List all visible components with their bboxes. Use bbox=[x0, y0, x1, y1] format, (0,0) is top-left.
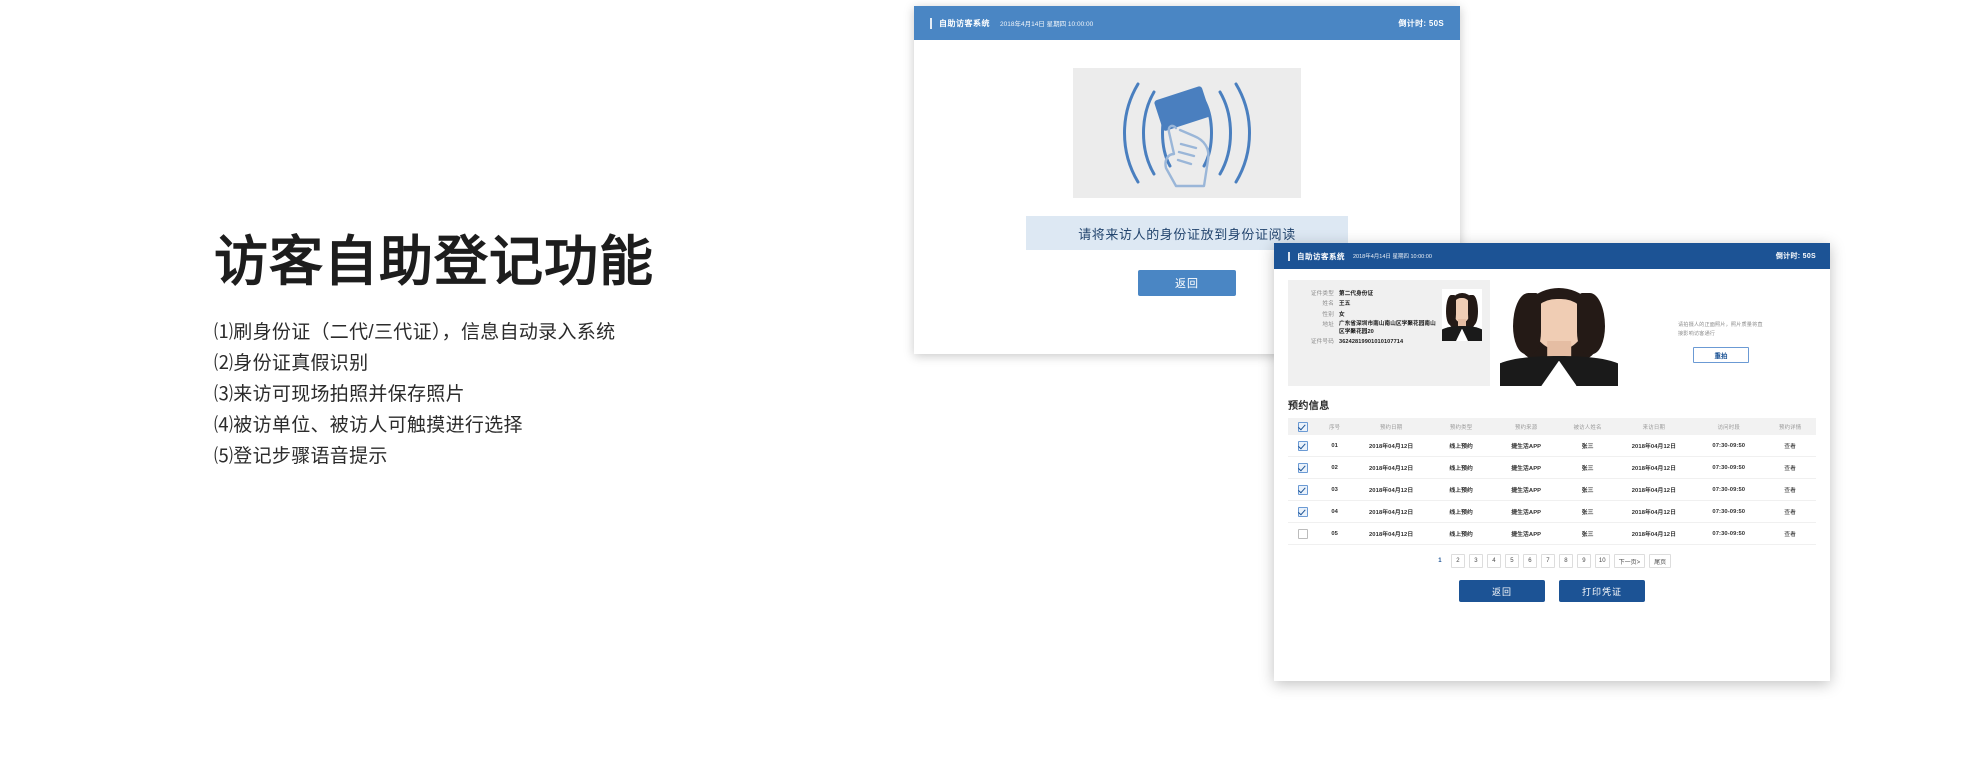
appointment-table: 序号 预约日期 预约类型 预约来源 被访人姓名 来访日期 访问时段 预约详情 0… bbox=[1288, 418, 1816, 545]
datetime-label: 2018年4月14日 星期四 10:00:00 bbox=[1000, 18, 1093, 28]
identity-field: 地址 广东省深圳市南山南山区学聚花园南山区学聚花园20 bbox=[1296, 320, 1438, 337]
cell-visit-date: 2018年04月12日 bbox=[1615, 435, 1694, 457]
page-title: 访客自助登记功能 bbox=[214, 232, 914, 292]
app-title: 自助访客系统 bbox=[1297, 251, 1345, 262]
identity-field-value: 36242819901010107714 bbox=[1339, 337, 1403, 347]
detail-action-bar: 返回 打印凭证 bbox=[1288, 580, 1816, 602]
view-detail-link[interactable]: 查看 bbox=[1764, 479, 1816, 501]
cell-appt-date: 2018年04月12日 bbox=[1352, 435, 1431, 457]
view-detail-link[interactable]: 查看 bbox=[1764, 501, 1816, 523]
column-header-appt-detail: 预约详情 bbox=[1764, 418, 1816, 435]
row-checkbox[interactable] bbox=[1298, 441, 1308, 451]
page-button-3[interactable]: 3 bbox=[1469, 554, 1483, 568]
cell-appt-date: 2018年04月12日 bbox=[1352, 523, 1431, 545]
id-card-swipe-icon bbox=[1073, 68, 1301, 198]
view-detail-link[interactable]: 查看 bbox=[1764, 523, 1816, 545]
appointment-section-title: 预约信息 bbox=[1288, 397, 1816, 412]
page-button-5[interactable]: 5 bbox=[1505, 554, 1519, 568]
title-divider-icon bbox=[1288, 252, 1290, 261]
cell-appt-date: 2018年04月12日 bbox=[1352, 457, 1431, 479]
datetime-label: 2018年4月14日 星期四 10:00:00 bbox=[1353, 252, 1432, 260]
table-row[interactable]: 03 2018年04月12日 线上预约 捷生活APP 张三 2018年04月12… bbox=[1288, 479, 1816, 501]
row-select-cell[interactable] bbox=[1288, 457, 1317, 479]
cell-time-slot: 07:30-09:50 bbox=[1693, 457, 1764, 479]
app-title: 自助访客系统 bbox=[939, 18, 990, 29]
column-header-visit-date: 来访日期 bbox=[1615, 418, 1694, 435]
row-select-cell[interactable] bbox=[1288, 523, 1317, 545]
identity-field-list: 证件类型 第二代身份证 姓名 王五 性别 女 地址 广东省深圳市南山南山区学聚花… bbox=[1296, 289, 1438, 377]
detail-body: 证件类型 第二代身份证 姓名 王五 性别 女 地址 广东省深圳市南山南山区学聚花… bbox=[1274, 269, 1830, 602]
cell-appt-date: 2018年04月12日 bbox=[1352, 501, 1431, 523]
identity-field-label: 姓名 bbox=[1296, 299, 1334, 309]
identity-field-label: 证件号码 bbox=[1296, 337, 1334, 347]
cell-visit-date: 2018年04月12日 bbox=[1615, 501, 1694, 523]
row-select-cell[interactable] bbox=[1288, 501, 1317, 523]
cell-host-name: 张三 bbox=[1561, 435, 1615, 457]
page-button-7[interactable]: 7 bbox=[1541, 554, 1555, 568]
table-row[interactable]: 02 2018年04月12日 线上预约 捷生活APP 张三 2018年04月12… bbox=[1288, 457, 1816, 479]
row-select-cell[interactable] bbox=[1288, 479, 1317, 501]
cell-appt-source: 捷生活APP bbox=[1492, 501, 1561, 523]
cell-time-slot: 07:30-09:50 bbox=[1693, 523, 1764, 545]
identity-and-capture-row: 证件类型 第二代身份证 姓名 王五 性别 女 地址 广东省深圳市南山南山区学聚花… bbox=[1288, 280, 1816, 386]
cell-time-slot: 07:30-09:50 bbox=[1693, 435, 1764, 457]
page-button-2[interactable]: 2 bbox=[1451, 554, 1465, 568]
page-button-9[interactable]: 9 bbox=[1577, 554, 1591, 568]
cell-host-name: 张三 bbox=[1561, 457, 1615, 479]
cell-index: 05 bbox=[1317, 523, 1351, 545]
page-button-10[interactable]: 10 bbox=[1595, 554, 1610, 568]
row-checkbox[interactable] bbox=[1298, 507, 1308, 517]
identity-field-value: 第二代身份证 bbox=[1339, 289, 1373, 299]
detail-title-bar: 自助访客系统 2018年4月14日 星期四 10:00:00 倒计时: 50S bbox=[1274, 243, 1830, 269]
portrait-image bbox=[1442, 289, 1482, 341]
retake-photo-button[interactable]: 重拍 bbox=[1693, 347, 1749, 363]
cell-appt-date: 2018年04月12日 bbox=[1352, 479, 1431, 501]
table-header-row: 序号 预约日期 预约类型 预约来源 被访人姓名 来访日期 访问时段 预约详情 bbox=[1288, 418, 1816, 435]
reader-back-button[interactable]: 返回 bbox=[1138, 270, 1236, 296]
table-row[interactable]: 05 2018年04月12日 线上预约 捷生活APP 张三 2018年04月12… bbox=[1288, 523, 1816, 545]
identity-field-label: 证件类型 bbox=[1296, 289, 1334, 299]
cell-appt-type: 线上预约 bbox=[1430, 479, 1491, 501]
cell-appt-source: 捷生活APP bbox=[1492, 457, 1561, 479]
table-row[interactable]: 01 2018年04月12日 线上预约 捷生活APP 张三 2018年04月12… bbox=[1288, 435, 1816, 457]
next-page-button[interactable]: 下一页> bbox=[1614, 554, 1646, 568]
identity-field: 性别 女 bbox=[1296, 310, 1438, 320]
cell-index: 01 bbox=[1317, 435, 1351, 457]
identity-field: 姓名 王五 bbox=[1296, 299, 1438, 309]
capture-panel: 请拍摄人的正面照片，照片质量将直接影响访客通行 重拍 bbox=[1500, 280, 1816, 386]
cell-appt-type: 线上预约 bbox=[1430, 457, 1491, 479]
feature-item: ⑸登记步骤语音提示 bbox=[214, 442, 914, 473]
page-button-1[interactable]: 1 bbox=[1433, 554, 1447, 568]
select-all-checkbox[interactable] bbox=[1298, 422, 1308, 432]
cell-index: 03 bbox=[1317, 479, 1351, 501]
row-checkbox[interactable] bbox=[1298, 485, 1308, 495]
cell-appt-type: 线上预约 bbox=[1430, 435, 1491, 457]
countdown-label: 倒计时: 50S bbox=[1398, 18, 1444, 29]
page-button-4[interactable]: 4 bbox=[1487, 554, 1501, 568]
cell-appt-source: 捷生活APP bbox=[1492, 479, 1561, 501]
print-pass-button[interactable]: 打印凭证 bbox=[1559, 580, 1645, 602]
cell-host-name: 张三 bbox=[1561, 501, 1615, 523]
cell-host-name: 张三 bbox=[1561, 479, 1615, 501]
identity-field-value: 王五 bbox=[1339, 299, 1350, 309]
identity-field: 证件类型 第二代身份证 bbox=[1296, 289, 1438, 299]
identity-field-value: 女 bbox=[1339, 310, 1345, 320]
identity-photo bbox=[1442, 289, 1482, 341]
select-all-header[interactable] bbox=[1288, 418, 1317, 435]
countdown-label: 倒计时: 50S bbox=[1776, 251, 1816, 261]
view-detail-link[interactable]: 查看 bbox=[1764, 435, 1816, 457]
cell-index: 02 bbox=[1317, 457, 1351, 479]
cell-appt-source: 捷生活APP bbox=[1492, 435, 1561, 457]
identity-card-panel: 证件类型 第二代身份证 姓名 王五 性别 女 地址 广东省深圳市南山南山区学聚花… bbox=[1288, 280, 1490, 386]
marketing-copy: 访客自助登记功能 ⑴刷身份证（二代/三代证），信息自动录入系统 ⑵身份证真假识别… bbox=[214, 232, 914, 472]
capture-hint-text: 请拍摄人的正面照片，照片质量将直接影响访客通行 bbox=[1678, 321, 1764, 339]
row-select-cell[interactable] bbox=[1288, 435, 1317, 457]
column-header-index: 序号 bbox=[1317, 418, 1351, 435]
column-header-time-slot: 访问时段 bbox=[1693, 418, 1764, 435]
capture-side: 请拍摄人的正面照片，照片质量将直接影响访客通行 重拍 bbox=[1626, 280, 1816, 386]
reader-title-bar: 自助访客系统 2018年4月14日 星期四 10:00:00 倒计时: 50S bbox=[914, 6, 1460, 40]
pagination: 1 2 3 4 5 6 7 8 9 10 下一页> 尾页 bbox=[1288, 554, 1816, 568]
row-checkbox[interactable] bbox=[1298, 529, 1308, 539]
feature-item: ⑴刷身份证（二代/三代证），信息自动录入系统 bbox=[214, 318, 914, 349]
detail-back-button[interactable]: 返回 bbox=[1459, 580, 1545, 602]
feature-item: ⑷被访单位、被访人可触摸进行选择 bbox=[214, 411, 914, 442]
table-row[interactable]: 04 2018年04月12日 线上预约 捷生活APP 张三 2018年04月12… bbox=[1288, 501, 1816, 523]
view-detail-link[interactable]: 查看 bbox=[1764, 457, 1816, 479]
feature-item: ⑵身份证真假识别 bbox=[214, 349, 914, 380]
page-button-6[interactable]: 6 bbox=[1523, 554, 1537, 568]
identity-field: 证件号码 36242819901010107714 bbox=[1296, 337, 1438, 347]
cell-appt-type: 线上预约 bbox=[1430, 523, 1491, 545]
page-button-8[interactable]: 8 bbox=[1559, 554, 1573, 568]
last-page-button[interactable]: 尾页 bbox=[1649, 554, 1671, 568]
column-header-appt-type: 预约类型 bbox=[1430, 418, 1491, 435]
feature-item: ⑶来访可现场拍照并保存照片 bbox=[214, 380, 914, 411]
visitor-detail-screen: 自助访客系统 2018年4月14日 星期四 10:00:00 倒计时: 50S … bbox=[1274, 243, 1830, 681]
column-header-host-name: 被访人姓名 bbox=[1561, 418, 1615, 435]
cell-visit-date: 2018年04月12日 bbox=[1615, 457, 1694, 479]
row-checkbox[interactable] bbox=[1298, 463, 1308, 473]
cell-time-slot: 07:30-09:50 bbox=[1693, 501, 1764, 523]
portrait-image bbox=[1500, 280, 1618, 386]
cell-index: 04 bbox=[1317, 501, 1351, 523]
title-divider-icon bbox=[930, 18, 932, 29]
cell-visit-date: 2018年04月12日 bbox=[1615, 523, 1694, 545]
cell-appt-type: 线上预约 bbox=[1430, 501, 1491, 523]
cell-host-name: 张三 bbox=[1561, 523, 1615, 545]
feature-list: ⑴刷身份证（二代/三代证），信息自动录入系统 ⑵身份证真假识别 ⑶来访可现场拍照… bbox=[214, 318, 914, 472]
cell-appt-source: 捷生活APP bbox=[1492, 523, 1561, 545]
identity-field-label: 性别 bbox=[1296, 310, 1334, 320]
identity-field-label: 地址 bbox=[1296, 320, 1334, 337]
column-header-appt-source: 预约来源 bbox=[1492, 418, 1561, 435]
cell-time-slot: 07:30-09:50 bbox=[1693, 479, 1764, 501]
cell-visit-date: 2018年04月12日 bbox=[1615, 479, 1694, 501]
captured-photo bbox=[1500, 280, 1618, 386]
identity-field-value: 广东省深圳市南山南山区学聚花园南山区学聚花园20 bbox=[1339, 320, 1438, 337]
column-header-appt-date: 预约日期 bbox=[1352, 418, 1431, 435]
